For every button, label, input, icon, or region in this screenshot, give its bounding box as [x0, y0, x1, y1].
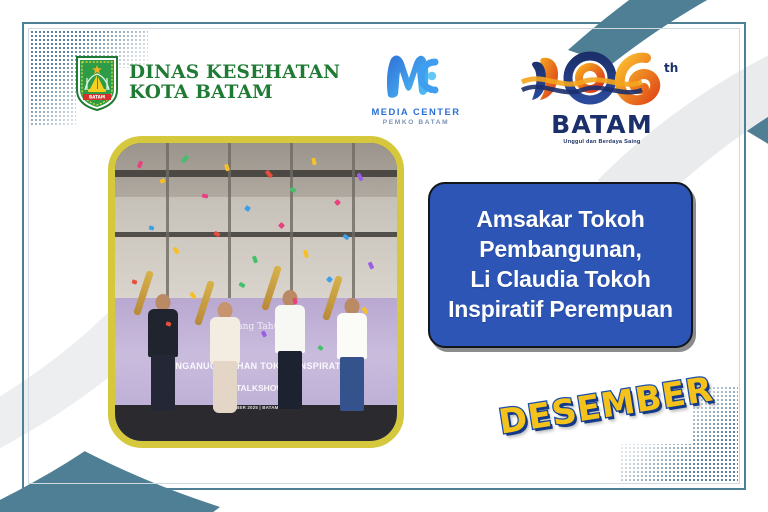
event-photo-frame: Ulang Tahun PENGANUGERAHAN TOKOH INSPIRA… — [108, 136, 404, 448]
logo-dinas-kesehatan: BATAM DINAS KESEHATAN KOTA BATAM — [74, 54, 340, 112]
anniversary-tagline: Unggul dan Berdaya Saing — [512, 139, 692, 145]
media-center-monogram-icon — [380, 52, 452, 100]
header-logo-band: BATAM DINAS KESEHATAN KOTA BATAM M — [60, 50, 708, 144]
logo-media-center: MEDIA CENTER PEMKO BATAM — [352, 52, 480, 126]
headline-line-3: Li Claudia Tokoh — [448, 265, 673, 295]
photo-person-1 — [146, 292, 180, 423]
photo-person-3 — [273, 289, 307, 423]
emblem-caption: BATAM — [89, 95, 105, 100]
poster-canvas: BATAM DINAS KESEHATAN KOTA BATAM M — [0, 0, 768, 512]
dinkes-line1: DINAS KESEHATAN — [129, 63, 340, 83]
photo-person-2 — [208, 298, 242, 423]
photo-backdrop-date: 17 DESEMBER 2025 | BATAM CENTRE — [171, 405, 340, 410]
batam-city-emblem-icon: BATAM — [74, 54, 120, 112]
headline-line-2: Pembangunan, — [448, 235, 673, 265]
anniversary-ordinal: th — [664, 61, 678, 75]
dinkes-line2: KOTA BATAM — [129, 83, 340, 103]
logo-anniversary-196: th BATAM Unggul dan Berdaya Saing — [512, 48, 692, 145]
anniversary-number-icon: th — [518, 48, 686, 110]
anniversary-city: BATAM — [512, 110, 692, 139]
headline-card: Amsakar Tokoh Pembangunan, Li Claudia To… — [428, 182, 693, 348]
headline-text: Amsakar Tokoh Pembangunan, Li Claudia To… — [440, 205, 681, 325]
headline-line-1: Amsakar Tokoh — [448, 205, 673, 235]
media-center-subtitle: PEMKO BATAM — [352, 119, 480, 126]
headline-line-4: Inspiratif Perempuan — [448, 295, 673, 325]
photo-person-4 — [335, 295, 369, 423]
media-center-name: MEDIA CENTER — [352, 106, 480, 117]
event-photo: Ulang Tahun PENGANUGERAHAN TOKOH INSPIRA… — [115, 143, 397, 441]
